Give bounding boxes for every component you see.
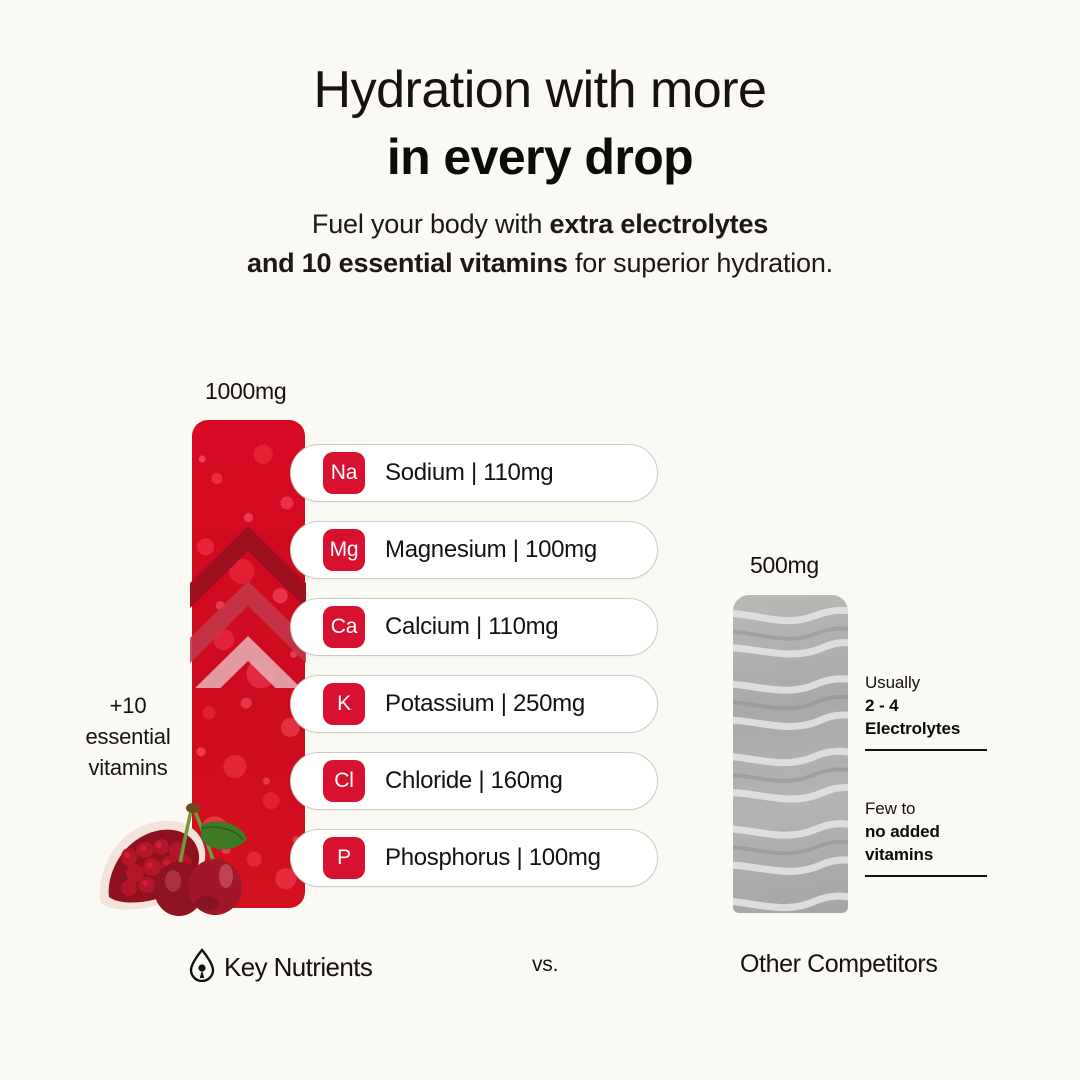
vitamins-note-line-1: +10 xyxy=(64,690,192,721)
electrolyte-row-magnesium[interactable]: Mg Magnesium | 100mg xyxy=(290,521,658,579)
electrolyte-label-magnesium: Magnesium | 100mg xyxy=(385,536,597,564)
infographic-canvas: Hydration with more in every drop Fuel y… xyxy=(0,0,1080,1080)
vitamins-note-line-3: vitamins xyxy=(865,844,987,867)
vitamins-note-line-2: essential xyxy=(64,721,192,752)
subheading-bold-2: and 10 essential vitamins xyxy=(247,248,568,278)
competitor-bar xyxy=(733,595,848,913)
electrolyte-row-chloride[interactable]: Cl Chloride | 160mg xyxy=(290,752,658,810)
key-nutrients-amount-label: 1000mg xyxy=(205,378,286,405)
vitamins-note-line-3: vitamins xyxy=(64,752,192,783)
element-badge-ca: Ca xyxy=(323,606,365,648)
note-divider xyxy=(865,749,987,751)
pomegranate-cherries-image xyxy=(95,795,270,920)
water-ripple-texture xyxy=(733,595,848,913)
subheading-bold-1: extra electrolytes xyxy=(550,209,769,239)
subheading-part-1: Fuel your body with xyxy=(312,209,550,239)
electrolyte-row-calcium[interactable]: Ca Calcium | 110mg xyxy=(290,598,658,656)
element-badge-mg: Mg xyxy=(323,529,365,571)
electrolyte-label-calcium: Calcium | 110mg xyxy=(385,613,558,641)
element-badge-cl: Cl xyxy=(323,760,365,802)
vitamins-note-line-1: Few to xyxy=(865,798,987,821)
note-divider xyxy=(865,875,987,877)
page-title: Hydration with more in every drop xyxy=(0,60,1080,187)
electrolyte-row-potassium[interactable]: K Potassium | 250mg xyxy=(290,675,658,733)
electrolyte-label-phosphorus: Phosphorus | 100mg xyxy=(385,844,601,872)
competitor-label: Other Competitors xyxy=(740,950,937,979)
electrolyte-row-sodium[interactable]: Na Sodium | 110mg xyxy=(290,444,658,502)
electrolytes-note-line-2: 2 - 4 xyxy=(865,695,987,718)
brand-name: Key Nutrients xyxy=(224,952,372,983)
headline-line-1: Hydration with more xyxy=(0,60,1080,121)
element-badge-p: P xyxy=(323,837,365,879)
vitamins-note-line-2: no added xyxy=(865,821,987,844)
electrolyte-label-sodium: Sodium | 110mg xyxy=(385,459,553,487)
electrolyte-label-chloride: Chloride | 160mg xyxy=(385,767,563,795)
triple-chevron-up-icon xyxy=(130,488,330,688)
water-drop-keyhole-icon xyxy=(188,948,216,987)
electrolyte-row-phosphorus[interactable]: P Phosphorus | 100mg xyxy=(290,829,658,887)
element-badge-na: Na xyxy=(323,452,365,494)
headline-line-2: in every drop xyxy=(0,127,1080,187)
electrolytes-note-line-3: Electrolytes xyxy=(865,718,987,741)
electrolytes-note-line-1: Usually xyxy=(865,672,987,695)
electrolyte-label-potassium: Potassium | 250mg xyxy=(385,690,585,718)
element-badge-k: K xyxy=(323,683,365,725)
competitor-amount-label: 500mg xyxy=(750,552,819,579)
essential-vitamins-note: +10 essential vitamins xyxy=(64,690,192,784)
competitor-vitamins-note: Few to no added vitamins xyxy=(865,798,987,877)
subheading: Fuel your body with extra electrolytes a… xyxy=(0,205,1080,283)
subheading-part-3: for superior hydration. xyxy=(568,248,833,278)
competitor-electrolytes-note: Usually 2 - 4 Electrolytes xyxy=(865,672,987,751)
versus-label: vs. xyxy=(532,953,558,977)
brand-logo: Key Nutrients xyxy=(188,948,372,987)
